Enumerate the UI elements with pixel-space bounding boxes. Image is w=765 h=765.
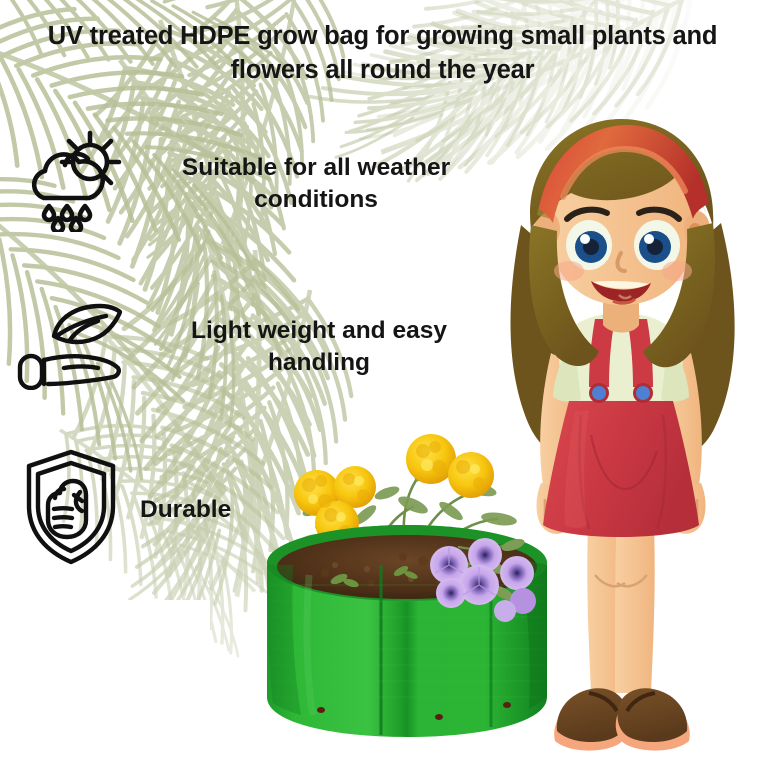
shield-fist-icon [24, 448, 118, 571]
feature-label-durable: Durable [140, 494, 300, 525]
feature-item-lightweight: Light weight and easy handling [14, 298, 484, 395]
feature-label-lightweight: Light weight and easy handling [154, 315, 484, 378]
feature-item-durable: Durable [24, 448, 324, 571]
page-title: UV treated HDPE grow bag for growing sma… [8, 20, 757, 88]
feature-item-weather: Suitable for all weather conditions [22, 130, 492, 237]
cloud-sun-rain-icon [22, 130, 122, 237]
feature-label-weather: Suitable for all weather conditions [146, 152, 486, 215]
product-infographic-poster: UV treated HDPE grow bag for growing sma… [0, 0, 765, 765]
hand-feather-icon [14, 298, 126, 395]
